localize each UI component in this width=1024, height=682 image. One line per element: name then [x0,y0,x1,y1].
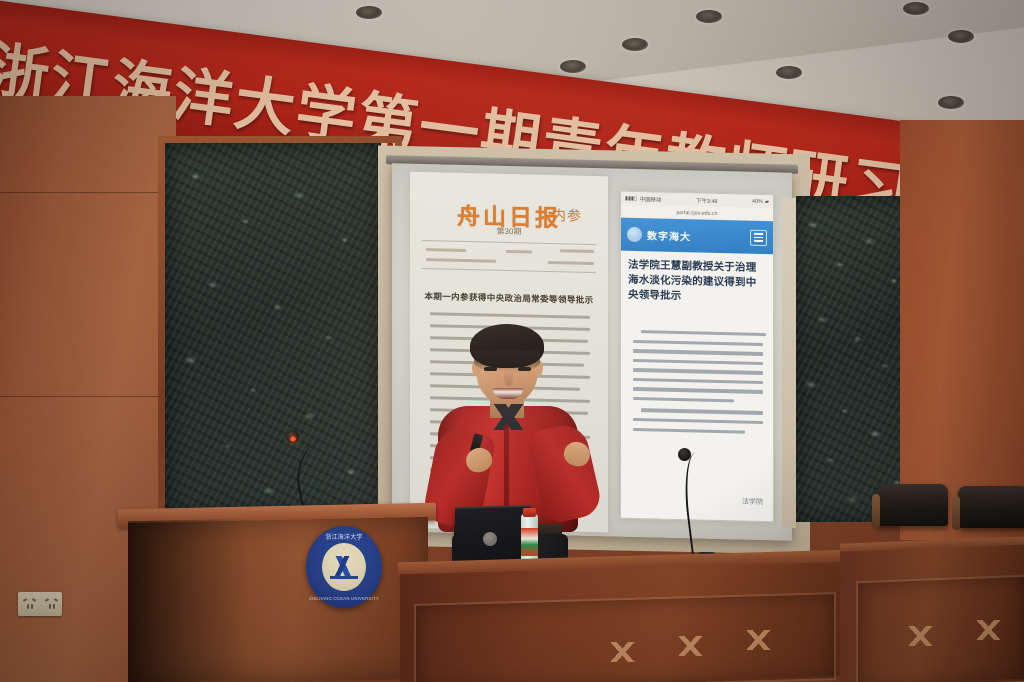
emblem-english-name: ZHEJIANG OCEAN UNIVERSITY [306,596,382,601]
university-emblem: 浙江海洋大学 ZHEJIANG OCEAN UNIVERSITY [306,526,382,608]
newspaper-meta-center [506,250,532,254]
newspaper-headline: 本期一内参获得中央政治局常委等领导批示 [410,290,608,307]
emblem-ring: 浙江海洋大学 ZHEJIANG OCEAN UNIVERSITY [306,526,382,608]
carrier-label: 中国移动 [640,195,662,204]
battery-label: 40% [752,198,763,204]
newspaper-meta-left [426,248,466,252]
downlight-icon [903,2,929,15]
speaker-eye-left [484,367,497,371]
article-body [633,330,763,440]
mic-status-led-icon [290,436,296,442]
phone-time: 下午3:48 [696,196,717,205]
battery-icon: ▰ [765,199,769,205]
desk-chevron-inlay [668,636,714,656]
bottle-label [521,528,538,556]
wall-cream-strip [782,198,796,528]
wall-panel-right [900,120,1024,540]
newspaper-meta-right [560,249,594,253]
lecture-hall-photo: 浙江海洋大学第一期青年教师研习营开营仪式 舟山日报 内参 第30期 本期一内参获… [0,0,1024,682]
socket-left-icon [22,597,37,612]
speaker-brow-left [482,360,499,364]
chair-armrest [952,496,960,530]
desk-mic-head [678,448,691,461]
speaker-brow-right [516,360,533,364]
conference-chair [958,486,1024,528]
bottle-cap [523,508,536,517]
desk-chevron-inlay [736,630,782,650]
wall-power-outlet[interactable] [18,592,62,616]
hamburger-menu-icon[interactable] [750,229,767,245]
conference-chair [876,484,948,526]
speaker-eye-right [518,367,531,371]
side-desk-chevron-inlay [966,620,1012,640]
newspaper-subtitle: 内参 [552,205,582,226]
socket-right-icon [44,597,59,612]
newspaper-meta-sub [426,258,496,263]
side-desk-chevron-inlay [898,626,944,646]
article-headline: 法学院王慧副教授关于治理海水淡化污染的建议得到中央领导批示 [628,258,766,306]
app-header-bar: 数字海大 [621,218,773,255]
newspaper-meta-sub2 [548,261,594,265]
laptop-logo-icon [483,532,497,546]
chair-armrest [872,494,880,528]
speaker-nose [504,372,513,386]
podium-shadow [128,519,248,682]
app-title: 数字海大 [647,227,691,243]
emblem-chinese-name: 浙江海洋大学 [306,532,382,541]
signal-icon: ▮▮▮▯ [625,195,637,201]
article-signature: 法学院 [742,497,763,507]
acoustic-panel-right [796,196,914,522]
university-logo-icon [627,227,642,242]
downlight-icon [948,30,974,43]
desk-chevron-inlay [600,642,646,662]
